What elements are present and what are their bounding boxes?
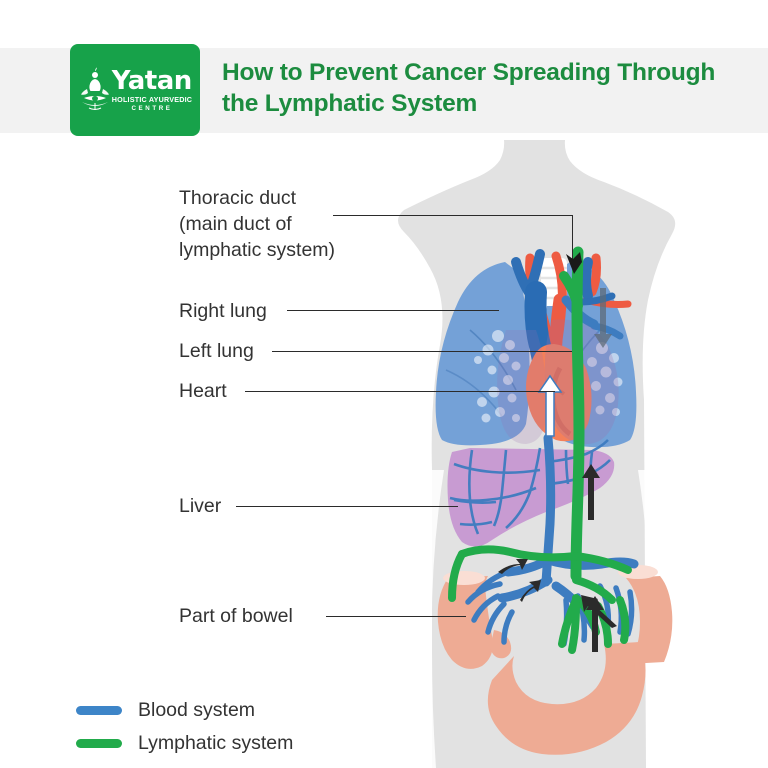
leader-part-of-bowel: [326, 616, 466, 617]
label-liver: Liver: [179, 494, 221, 520]
legend-swatch-blood: [76, 706, 122, 715]
label-thoracic-duct: Thoracic duct (main duct of lymphatic sy…: [179, 186, 335, 264]
leader-left-lung: [272, 351, 572, 352]
label-left-lung: Left lung: [179, 339, 254, 365]
legend-item-lymphatic-system: Lymphatic system: [76, 727, 293, 760]
infographic-canvas: Yatan HOLISTIC AYURVEDIC CENTRE How to P…: [0, 0, 768, 768]
leader-right-lung: [287, 310, 499, 311]
leader-liver: [236, 506, 458, 507]
thoracic-duct-arrowhead: [560, 250, 588, 278]
label-heart: Heart: [179, 379, 227, 405]
leader-thoracic-duct: [333, 215, 573, 216]
legend-swatch-lymphatic: [76, 739, 122, 748]
label-part-of-bowel: Part of bowel: [179, 604, 293, 630]
label-right-lung: Right lung: [179, 299, 267, 325]
legend-item-blood-system: Blood system: [76, 694, 293, 727]
legend-label-lymphatic: Lymphatic system: [138, 732, 293, 755]
leader-heart: [245, 391, 555, 392]
legend: Blood system Lymphatic system: [76, 694, 293, 760]
anatomy-illustration: [0, 0, 768, 768]
legend-label-blood: Blood system: [138, 699, 255, 722]
